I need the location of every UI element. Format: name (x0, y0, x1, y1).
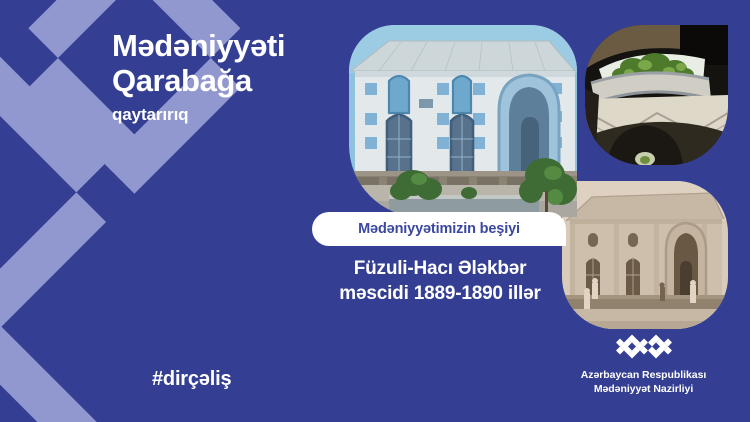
headline-block: Mədəniyyəti Qarabağa qaytarırıq (112, 28, 362, 125)
mosque-interior-arch-photo (585, 25, 728, 165)
status-badge: Mədəniyyətimizin beşiyi (312, 212, 566, 246)
caption-line-1: Füzuli-Hacı Ələkbər (300, 256, 580, 281)
azerbaijan-knot-emblem-icon (615, 330, 673, 363)
logo-line-2: Mədəniyyət Nazirliyi (556, 383, 731, 397)
headline-line-2: Qarabağa (112, 63, 362, 98)
campaign-hashtag: #dirçəliş (152, 368, 231, 391)
caption-line-2: məscidi 1889-1890 illər (300, 281, 580, 306)
ministry-logo: Azərbaycan Respublikası Mədəniyyət Nazir… (556, 330, 731, 397)
photo-caption: Füzuli-Hacı Ələkbər məscidi 1889-1890 il… (300, 256, 580, 307)
poster-canvas: Mədəniyyəti Qarabağa qaytarırıq #dirçəli… (0, 0, 750, 422)
headline-line-1: Mədəniyyəti (112, 28, 362, 63)
mosque-exterior-color-photo (349, 25, 577, 217)
logo-line-1: Azərbaycan Respublikası (556, 369, 731, 383)
badge-label: Mədəniyyətimizin beşiyi (358, 221, 520, 237)
mosque-historic-sepia-photo (562, 181, 728, 329)
headline-subline: qaytarırıq (112, 105, 362, 125)
